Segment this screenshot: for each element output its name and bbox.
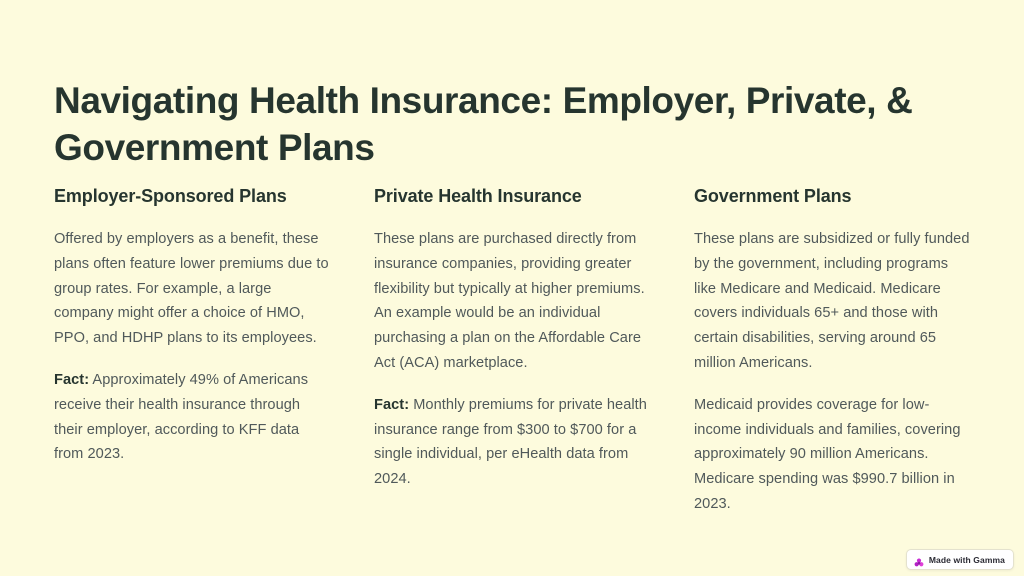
gamma-flower-icon xyxy=(914,555,924,565)
column-paragraph: Offered by employers as a benefit, these… xyxy=(54,227,332,351)
fact-label: Fact: xyxy=(374,397,409,413)
column-paragraph: These plans are purchased directly from … xyxy=(374,227,652,376)
column-heading: Employer-Sponsored Plans xyxy=(54,184,332,209)
column-government-plans: Government Plans These plans are subsidi… xyxy=(694,184,972,517)
fact-text: Approximately 49% of Americans receive t… xyxy=(54,372,308,462)
column-heading: Government Plans xyxy=(694,184,972,209)
column-heading: Private Health Insurance xyxy=(374,184,652,209)
fact-text: Monthly premiums for private health insu… xyxy=(374,397,647,487)
column-fact-paragraph: Medicaid provides coverage for low-incom… xyxy=(694,393,972,517)
column-fact-paragraph: Fact: Monthly premiums for private healt… xyxy=(374,393,652,492)
fact-label: Fact: xyxy=(54,372,89,388)
column-fact-paragraph: Fact: Approximately 49% of Americans rec… xyxy=(54,368,332,467)
page-title: Navigating Health Insurance: Employer, P… xyxy=(54,77,934,171)
columns-container: Employer-Sponsored Plans Offered by empl… xyxy=(54,184,974,517)
gamma-badge-label: Made with Gamma xyxy=(929,555,1005,565)
column-paragraph: These plans are subsidized or fully fund… xyxy=(694,227,972,376)
column-employer-sponsored: Employer-Sponsored Plans Offered by empl… xyxy=(54,184,332,467)
slide-canvas: Navigating Health Insurance: Employer, P… xyxy=(0,0,1024,576)
column-private-health: Private Health Insurance These plans are… xyxy=(374,184,652,492)
made-with-gamma-badge[interactable]: Made with Gamma xyxy=(906,549,1014,570)
